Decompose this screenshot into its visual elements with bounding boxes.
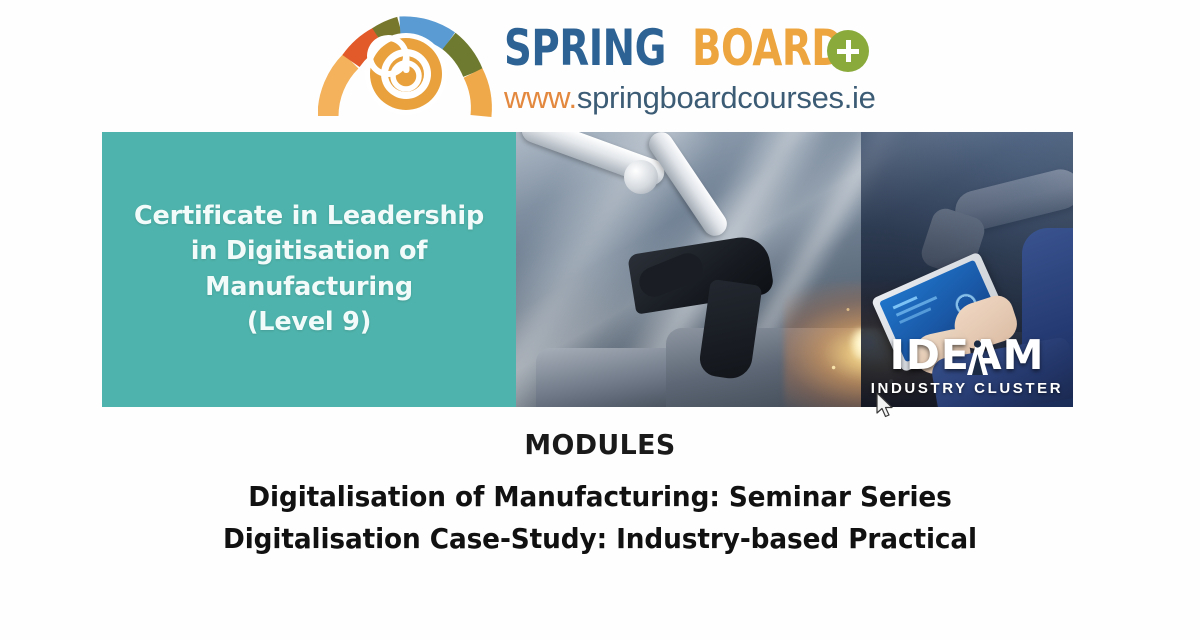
logo-url: www.springboardcourses.ie — [504, 82, 876, 113]
logo-header: SPRINGBOARD www.springboardcourses.ie — [0, 0, 1200, 125]
course-title-line-2: in Digitisation of — [134, 234, 484, 269]
ideam-a-mark-icon — [966, 337, 989, 377]
wordmark-spring: SPRING — [504, 20, 666, 76]
wordmark-board: BOARD — [692, 20, 843, 76]
modules-heading: MODULES — [24, 428, 1176, 462]
url-domain: springboardcourses.ie — [577, 80, 876, 115]
springboard-logo: SPRINGBOARD www.springboardcourses.ie — [318, 14, 888, 119]
course-title-line-4: (Level 9) — [134, 305, 484, 340]
ideam-subtitle: INDUSTRY CLUSTER — [867, 381, 1067, 396]
url-prefix: www. — [504, 80, 577, 115]
plus-badge-icon — [827, 30, 869, 72]
course-banner: Certificate in Leadership in Digitisatio… — [102, 132, 1073, 407]
modules-section: MODULES Digitalisation of Manufacturing:… — [0, 428, 1200, 561]
module-item-1: Digitalisation of Manufacturing: Seminar… — [36, 476, 1164, 519]
course-title: Certificate in Leadership in Digitisatio… — [126, 199, 492, 340]
robot-arm-joint — [624, 160, 658, 194]
ideam-wordmark: IDEAM — [867, 335, 1067, 379]
ideam-logo: IDEAM INDUSTRY CLUSTER — [867, 335, 1067, 401]
springboard-arc-power-icon — [318, 16, 496, 118]
engine-block — [536, 348, 686, 407]
banner-photo: IDEAM INDUSTRY CLUSTER — [516, 132, 1073, 407]
course-title-line-1: Certificate in Leadership — [134, 199, 484, 234]
module-item-2: Digitalisation Case-Study: Industry-base… — [36, 518, 1164, 561]
course-title-line-3: Manufacturing — [134, 270, 484, 305]
springboard-wordmark: SPRINGBOARD — [504, 20, 894, 76]
course-title-panel: Certificate in Leadership in Digitisatio… — [102, 132, 516, 407]
